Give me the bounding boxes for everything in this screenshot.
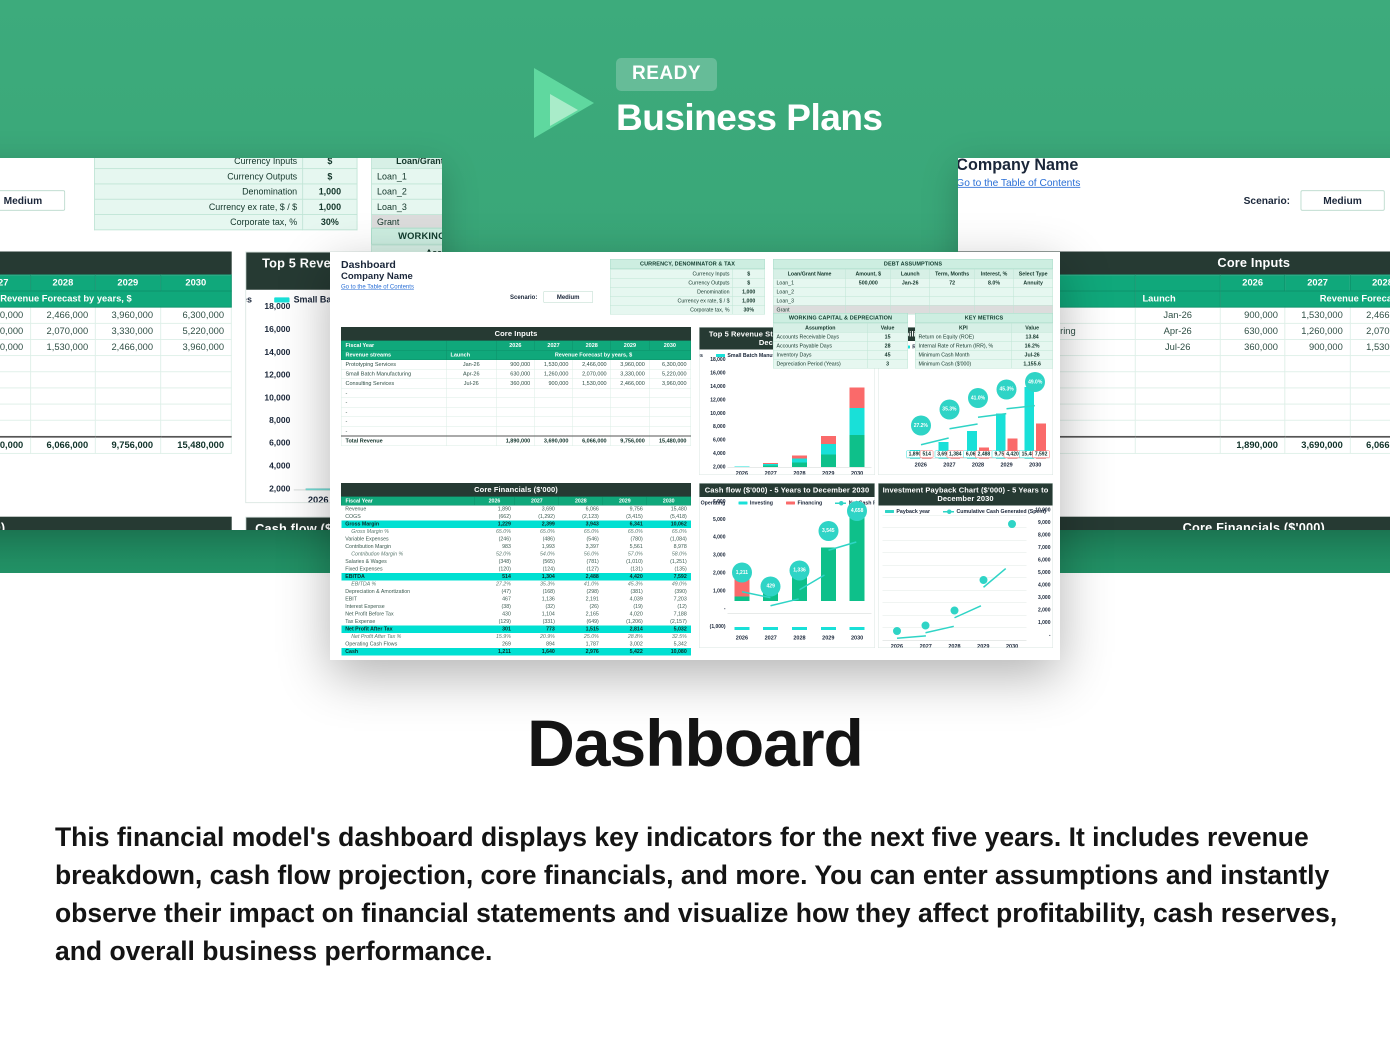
debt-table: Loan/Grant NameAmount, $LaunchTerm, Mont… [371,158,442,230]
forecast-value[interactable]: 1,260,000 [534,369,572,379]
forecast-value[interactable] [0,388,30,404]
table-row: Revenue 1,8903,6906,0669,75615,480 [341,505,691,513]
cell[interactable]: Loan_3 [372,199,442,214]
net-cash-flow-bubble: 429 [761,576,781,596]
line-item-value: (662) [474,513,515,521]
x-tick-label: 2028 [785,469,814,476]
line-item-value: (131) [603,565,647,573]
forecast-value[interactable]: 630,000 [1220,323,1285,339]
forecast-value[interactable] [160,404,231,420]
forecast-value[interactable]: 1,530,000 [573,379,611,389]
profitability-plot: 1,890 514 3,690 1,384 6,066 2,48 [879,351,1053,472]
forecast-value[interactable]: 1,530,000 [0,307,30,323]
net-cash-flow-bubble: 3,545 [818,521,838,541]
cell[interactable]: Loan_3 [773,296,846,305]
legend-item: Prototyping Services [699,353,703,359]
cell[interactable]: Loan_1 [773,278,846,287]
table-row: EBITDA % 27.2%35.3%41.0%45.3%49.0% [341,580,691,588]
forecast-value[interactable] [95,404,160,420]
launch-date[interactable] [1135,404,1220,420]
line-item-value: 430 [474,610,515,618]
legend-label: Prototyping Services [699,353,703,359]
forecast-value[interactable] [30,388,95,404]
x-tick-label: 2027 [756,633,785,645]
assumption-value[interactable]: 1,000 [733,287,765,296]
bar-segment [850,408,865,435]
line-item-label: Contribution Margin [341,543,474,551]
forecast-value[interactable] [1285,420,1350,437]
x-tick-label: 2030 [1021,460,1050,472]
line-item-value: 7,203 [647,595,691,603]
forecast-value[interactable]: 2,466,000 [573,360,611,370]
y-tick: 14,000 [264,348,290,357]
column-header: Loan/Grant Name [773,269,846,278]
cash_flow-plot: 6,0005,0004,0003,0002,0001,000-(1,000) 1… [700,507,875,645]
line-item-value: 301 [474,625,515,633]
column-header: 2030 [160,275,231,291]
scenario-selector[interactable]: Scenario: Medium [0,190,65,210]
y-tick: 10,000 [1035,507,1050,513]
forecast-value[interactable]: 900,000 [0,339,30,355]
y-tick: 5,000 [713,517,726,523]
line-item-value: 467 [474,595,515,603]
cash-flow-chart: Cash flow ($'000) - 5 Years to December … [699,483,875,648]
forecast-value[interactable] [573,407,611,417]
forecast-value[interactable]: 630,000 [496,369,534,379]
forecast-value[interactable] [611,398,649,408]
forecast-value[interactable] [649,398,691,408]
revenue-stream-name[interactable]: Small Batch Manufacturing [341,369,446,379]
line-item-value: (781) [559,558,603,566]
cell[interactable] [974,296,1013,305]
y-tick: (1,000) [710,624,726,630]
forecast-value[interactable] [649,417,691,427]
forecast-value[interactable] [1285,356,1350,372]
assumption-label: Currency ex rate, $ / $ [94,199,302,214]
y-tick: 6,000 [713,499,726,505]
forecast-value[interactable] [160,420,231,437]
cell[interactable]: Annuity [1014,278,1053,287]
column-header: 2029 [603,497,647,506]
forecast-value[interactable] [1350,404,1390,420]
forecast-value[interactable] [611,417,649,427]
forecast-value[interactable]: 360,000 [1220,339,1285,355]
line-item-value: (124) [515,565,559,573]
line-item-value: (1,206) [603,618,647,626]
table-row: Gross Margin 1,2292,3993,9436,34110,062 [341,520,691,528]
table-row: Cash 1,2111,6402,9765,42210,080 [341,648,691,656]
line-item-value: 2,488 [559,573,603,581]
line-item-value: 27.2% [474,580,515,588]
forecast-value[interactable]: 360,000 [496,379,534,389]
forecast-value[interactable] [95,388,160,404]
brand-logo: READY Business Plans [528,58,888,154]
line-item-value: (331) [515,618,559,626]
line-item-value: 7,592 [647,573,691,581]
forecast-value[interactable] [496,388,534,398]
page-title: Dashboard [0,705,1390,781]
forecast-value[interactable] [534,398,572,408]
forecast-value[interactable]: 2,466,000 [95,339,160,355]
revenue-stream-name[interactable]: - [341,398,446,408]
forecast-value[interactable] [95,372,160,388]
forecast-value[interactable]: 1,530,000 [1285,307,1350,323]
x-tick-label: 2029 [969,642,998,649]
column-header: Launch [1135,291,1220,307]
scenario-value[interactable]: Medium [0,190,65,210]
assumption-value[interactable]: $ [303,158,357,169]
forecast-value[interactable] [1350,372,1390,388]
cell[interactable] [891,287,930,296]
forecast-value[interactable] [0,420,30,437]
launch-date[interactable] [446,388,496,398]
y-tick: 2,000 [713,570,726,576]
y-tick: 2,000 [713,464,726,470]
forecast-value[interactable]: 3,960,000 [95,307,160,323]
assumption-value[interactable]: $ [733,278,765,287]
table-row: Net Profit After Tax 3017731,5152,8145,0… [341,625,691,633]
table-row: Denomination 1,000 [610,287,765,296]
table-row: Net Profit After Tax % 15.9%20.9%25.0%28… [341,633,691,641]
gridline [883,553,1027,554]
cell[interactable]: Jul-26 [1012,350,1053,359]
forecast-value[interactable] [0,372,30,388]
y-tick: 6,000 [1038,557,1051,563]
cell[interactable]: Minimum Cash Month [915,350,1011,359]
table-row: - [341,398,691,408]
forecast-value[interactable] [649,407,691,417]
forecast-value[interactable] [496,426,534,436]
forecast-value[interactable] [573,388,611,398]
assumption-value[interactable]: 1,000 [303,199,357,214]
cell[interactable]: 3 [867,359,907,368]
forecast-value[interactable] [30,356,95,372]
debt-table: Loan/Grant NameAmount, $LaunchTerm, Mont… [773,269,1053,315]
assumption-label: Currency Inputs [94,158,302,169]
line-item-value: (120) [474,565,515,573]
launch-date[interactable]: Apr-26 [446,369,496,379]
total-value: 15,480,000 [649,436,691,446]
forecast-value[interactable] [611,407,649,417]
forecast-value[interactable] [611,426,649,436]
forecast-value[interactable] [1220,372,1285,388]
forecast-value[interactable] [573,426,611,436]
cell[interactable]: Internal Rate of Return (IRR), % [915,341,1011,350]
launch-date[interactable] [1135,388,1220,404]
forecast-value[interactable] [0,404,30,420]
gridline [883,540,1027,541]
cell[interactable] [1014,296,1053,305]
line-item-value: 58.0% [647,550,691,558]
line-item-value: (565) [515,558,559,566]
forecast-value[interactable]: 2,070,000 [1350,323,1390,339]
forecast-value[interactable] [1350,388,1390,404]
scenario-value[interactable]: Medium [543,291,593,303]
line-item-value: 894 [515,640,559,648]
line-item-value: 15.9% [474,633,515,641]
revenue-stream-name[interactable]: - [341,388,446,398]
table-row: Depreciation Period (Years)3 [773,359,908,368]
line-item-value: (1,251) [647,558,691,566]
forecast-value[interactable] [1220,388,1285,404]
line-item-value: 1,211 [474,648,515,656]
launch-date[interactable]: Apr-26 [1135,323,1220,339]
launch-date[interactable] [446,398,496,408]
cell[interactable]: Minimum Cash ($'000) [915,359,1011,368]
cell[interactable] [974,287,1013,296]
forecast-value[interactable]: 3,960,000 [649,379,691,389]
forecast-value[interactable] [1220,356,1285,372]
forecast-value[interactable] [611,388,649,398]
forecast-value[interactable] [1285,404,1350,420]
line-item-value: (26) [559,603,603,611]
forecast-value[interactable]: 1,530,000 [30,339,95,355]
revenue-stream-name[interactable]: - [341,417,446,427]
column-header: 2029 [95,275,160,291]
line-item-label: Operating Cash Flows [341,640,474,648]
launch-date[interactable] [1135,372,1220,388]
line-item-value: 1,890 [474,505,515,513]
table-row: Consulting Services Jul-26 360,000900,00… [0,339,231,355]
investing-bar [821,627,836,630]
scenario-value[interactable]: Medium [1300,190,1384,210]
forecast-value[interactable]: 900,000 [1220,307,1285,323]
gridline [883,578,1027,579]
forecast-value[interactable]: 2,070,000 [573,369,611,379]
forecast-value[interactable] [1285,372,1350,388]
forecast-value[interactable] [1220,420,1285,437]
cell[interactable] [846,287,891,296]
forecast-value[interactable] [30,404,95,420]
forecast-value[interactable] [160,372,231,388]
debt-panel: DEBT ASSUMPTIONS Loan/Grant NameAmount, … [371,158,442,230]
line-item-value: 45.3% [603,580,647,588]
assumption-value[interactable]: $ [303,169,357,184]
forecast-value[interactable]: 1,260,000 [0,323,30,339]
forecast-value[interactable] [534,417,572,427]
column-header: 2028 [573,341,611,351]
cell[interactable] [930,296,975,305]
main-dashboard-screenshot[interactable]: Dashboard Company Name Go to the Table o… [330,252,1060,660]
cell[interactable]: Loan_2 [372,184,442,199]
column-header: 2026 [474,497,515,506]
forecast-value[interactable] [95,420,160,437]
x-tick-label: 2028 [785,633,814,645]
forecast-value[interactable]: 1,530,000 [534,360,572,370]
total-value: 3,690,000 [1285,437,1350,454]
investment_payback-y-axis: 10,0009,0008,0007,0006,0005,0004,0003,00… [1027,516,1053,649]
launch-date[interactable]: Jul-26 [1135,339,1220,355]
scenario-selector[interactable]: Scenario: Medium [510,291,593,303]
forecast-value[interactable]: 5,220,000 [160,323,231,339]
cell[interactable]: 1,155.6 [1012,359,1053,368]
assumption-value[interactable]: 30% [303,215,357,230]
cell[interactable]: 500,000 [846,278,891,287]
working-capital-panel: WORKING CAPITAL & DEPRECIATION Assumptio… [773,313,908,369]
y-tick: 6,000 [269,439,290,448]
data-point [951,606,959,614]
cell[interactable]: 13.84 [1012,332,1053,341]
forecast-value[interactable] [534,426,572,436]
forecast-value[interactable]: 3,330,000 [611,369,649,379]
launch-date[interactable]: Jul-26 [446,379,496,389]
legend-label: Financing [797,500,822,506]
line-item-value: 1,136 [515,595,559,603]
cell[interactable] [891,296,930,305]
forecast-value[interactable] [1220,404,1285,420]
company-name: Company Name [958,158,1080,175]
ebitda-pct-bubble: 41.0% [968,388,988,408]
forecast-value[interactable]: 2,466,000 [1350,307,1390,323]
x-tick-label: 2028 [964,460,993,472]
cell[interactable]: Accounts Payable Days [773,341,867,350]
ebitda-value-label: 1,384 [947,451,965,459]
assumption-value[interactable]: $ [733,269,765,278]
cash_flow-title: Cash flow ($'000) - 5 Years to December … [700,484,875,498]
y-tick: 16,000 [264,325,290,334]
cell[interactable] [846,296,891,305]
line-item-value: (348) [474,558,515,566]
line-item-value: 2,165 [559,610,603,618]
table-of-contents-link[interactable]: Go to the Table of Contents [341,283,414,290]
forecast-value[interactable]: 3,330,000 [95,323,160,339]
revenue-stream-name[interactable]: - [341,426,446,436]
launch-date[interactable] [1135,420,1220,437]
cell[interactable] [930,287,975,296]
cell[interactable]: 45 [867,350,907,359]
gridline [883,628,1027,629]
forecast-value[interactable]: 3,960,000 [160,339,231,355]
launch-date[interactable] [446,426,496,436]
forecast-value[interactable] [573,398,611,408]
forecast-value[interactable] [0,356,30,372]
forecast-value[interactable] [30,420,95,437]
assumption-value[interactable]: 1,000 [303,184,357,199]
cell[interactable]: Loan_1 [372,169,442,184]
revenue-stream-name[interactable]: Prototyping Services [341,360,446,370]
table-row: Loan_1500,000Jan-26728.0%Annuity [773,278,1053,287]
forecast-value[interactable] [95,356,160,372]
x-tick-label: 2029 [992,460,1021,472]
column-header: 2028 [559,497,603,506]
launch-date[interactable] [446,417,496,427]
legend-label: Investing [750,500,773,506]
net-cash-flow-bubble: 1,211 [732,563,752,583]
forecast-value[interactable] [30,372,95,388]
assumption-value[interactable]: 1,000 [733,296,765,305]
total-spacer [1135,437,1220,454]
forecast-value[interactable]: 1,530,000 [1350,339,1390,355]
total-value: 6,066,000 [573,436,611,446]
forecast-value[interactable] [649,388,691,398]
forecast-value[interactable]: 1,260,000 [1285,323,1350,339]
launch-date[interactable] [1135,356,1220,372]
forecast-value[interactable]: 6,300,000 [649,360,691,370]
y-tick: 4,000 [269,462,290,471]
scenario-selector[interactable]: Scenario: Medium [1244,190,1385,210]
core-inputs-card: Core Inputs Fiscal Year 2026202720282029… [0,252,232,454]
cell[interactable]: Jan-26 [891,278,930,287]
legend-swatch [738,502,747,505]
launch-date[interactable]: Jan-26 [446,360,496,370]
forecast-value[interactable] [534,407,572,417]
investment-payback-chart: Investment Payback Chart ($'000) - 5 Yea… [878,483,1053,648]
forecast-value[interactable] [496,417,534,427]
table-of-contents-link[interactable]: Go to the Table of Contents [958,177,1080,189]
line-item-label: Cash [341,648,474,656]
forecast-value[interactable] [649,426,691,436]
total-value: 1,890,000 [1220,437,1285,454]
investment_payback-title: Investment Payback Chart ($'000) - 5 Yea… [879,484,1053,506]
cell[interactable]: Return on Equity (ROE) [915,332,1011,341]
forecast-value[interactable]: 900,000 [496,360,534,370]
launch-date[interactable]: Jan-26 [1135,307,1220,323]
cell[interactable]: 72 [930,278,975,287]
forecast-value[interactable]: 3,960,000 [611,360,649,370]
forecast-value[interactable]: 5,220,000 [649,369,691,379]
scenario-label: Scenario: [1244,195,1290,207]
assumption-label: Denomination [94,184,302,199]
column-header [446,341,496,351]
cell[interactable]: 16.2% [1012,341,1053,350]
cell[interactable] [1014,287,1053,296]
revenue-stream-name[interactable]: - [341,407,446,417]
cell[interactable]: 15 [867,332,907,341]
cell[interactable]: 8.0% [974,278,1013,287]
cell[interactable]: Inventory Days [773,350,867,359]
forecast-value[interactable]: 2,466,000 [30,307,95,323]
total-value: 6,066,000 [1350,437,1390,454]
forecast-value[interactable]: 2,466,000 [611,379,649,389]
launch-date[interactable] [446,407,496,417]
table-row: - [0,420,231,437]
table-row: Tax Expense (129)(331)(649)(1,206)(2,157… [341,618,691,626]
ebitda-value-label: 2,488 [975,451,993,459]
legend-item: Payback year [885,509,930,515]
revenue-stream-name[interactable]: Consulting Services [341,379,446,389]
cell[interactable]: Loan_2 [773,287,846,296]
forecast-value[interactable]: 2,070,000 [30,323,95,339]
line-item-value: (19) [603,603,647,611]
forecast-value[interactable] [496,407,534,417]
table-row: Corporate tax, % 30% [610,305,765,314]
cell[interactable]: Depreciation Period (Years) [773,359,867,368]
forecast-value[interactable] [1350,420,1390,437]
forecast-value[interactable] [496,398,534,408]
line-item-label: Tax Expense [341,618,474,626]
forecast-value[interactable] [1350,356,1390,372]
forecast-value[interactable]: 900,000 [534,379,572,389]
forecast-value[interactable]: 6,300,000 [160,307,231,323]
cell[interactable]: Accounts Receivable Days [773,332,867,341]
line-item-value: 28.8% [603,633,647,641]
forecast-value[interactable] [160,388,231,404]
x-tick-label: 2027 [911,642,940,649]
cell[interactable]: 28 [867,341,907,350]
forecast-value[interactable] [160,356,231,372]
core-financials-card: Core Financials ($'000) Fiscal Year 2026… [341,483,691,655]
bar-column [785,360,814,468]
line-item-value: 983 [474,543,515,551]
forecast-value[interactable] [573,417,611,427]
forecast-value[interactable] [534,388,572,398]
cash-flow-card: Cash flow ($'000) - 5 Years to December … [699,483,875,648]
forecast-value[interactable] [1285,388,1350,404]
assumption-value[interactable]: 30% [733,305,765,314]
forecast-value[interactable]: 900,000 [1285,339,1350,355]
x-tick-label: 2026 [728,469,757,476]
column-header: 2026 [496,341,534,351]
